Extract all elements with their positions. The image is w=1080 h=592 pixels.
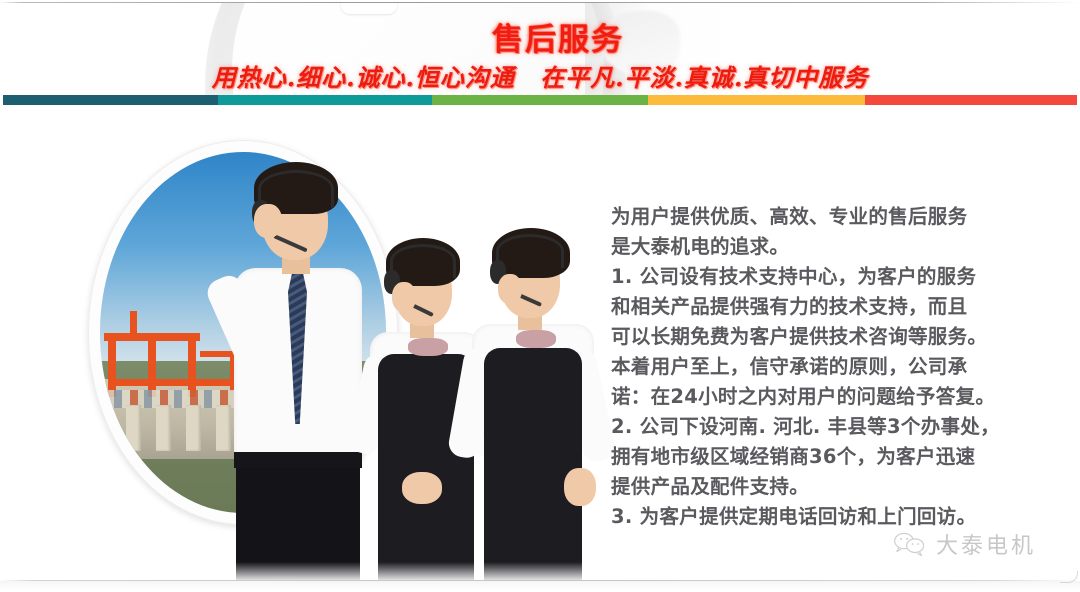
page-subtitle: 用热心.细心.诚心.恒心沟通 在平凡.平淡.真诚.真切中服务 [0, 58, 1080, 93]
agent-vest [484, 348, 582, 586]
gantry-crane-mast [130, 311, 137, 339]
copy-line: 是大泰机电的追求。 [611, 232, 1031, 262]
pier-column [126, 405, 141, 451]
wechat-watermark: 大泰电机 [893, 528, 1036, 560]
header-tab-decoration [341, 3, 397, 14]
page-title: 售后服务 [18, 14, 1080, 59]
stripe-segment-teal-dark [3, 95, 218, 105]
stripe-segment-red [865, 95, 1077, 105]
wechat-account-name: 大泰电机 [936, 528, 1036, 560]
stripe-segment-yellow [648, 95, 865, 105]
color-stripe-bar [3, 95, 1077, 105]
agent-female-right [448, 182, 612, 586]
gantry-crane-leg [148, 333, 156, 397]
pier-column [186, 405, 201, 451]
customer-service-agents [212, 156, 612, 586]
copy-line: 可以长期免费为客户提供技术咨询等服务。 [611, 322, 1031, 352]
agent-hand [254, 204, 282, 238]
copy-line: 拥有地市级区域经销商36个，为客户迅速 [611, 442, 1031, 472]
service-team-photo [62, 118, 622, 588]
copy-line: 2. 公司下设河南. 河北. 丰县等3个办事处， [611, 412, 1031, 442]
page-subtitle-left: 用热心.细心.诚心.恒心沟通 [212, 63, 515, 92]
wechat-icon [893, 531, 927, 557]
gantry-crane-leg [108, 333, 116, 397]
copy-line: 为用户提供优质、高效、专业的售后服务 [611, 202, 1031, 232]
agent-belt [234, 452, 362, 468]
bottom-shade [0, 581, 1080, 592]
page-subtitle-right: 在平凡.平淡.真诚.真切中服务 [540, 63, 868, 92]
copy-line: 1. 公司设有技术支持中心，为客户的服务 [611, 262, 1031, 292]
agent-hand [392, 282, 416, 312]
agent-bowtie [516, 330, 556, 348]
slide-header: 售后服务 用热心.细心.诚心.恒心沟通 在平凡.平淡.真诚.真切中服务 [0, 3, 1080, 98]
copy-line: 提供产品及配件支持。 [611, 472, 1031, 502]
pier-column [156, 405, 171, 451]
agent-hand [564, 468, 596, 506]
copy-line: 诺：在24小时之内对用户的问题给予答复。 [611, 382, 1031, 412]
agent-hand [402, 472, 442, 504]
gantry-crane-leg [188, 333, 196, 397]
agent-bowtie [408, 338, 448, 356]
agent-hand [498, 274, 522, 304]
service-description-text: 为用户提供优质、高效、专业的售后服务 是大泰机电的追求。 1. 公司设有技术支持… [611, 202, 1031, 532]
headset-band-icon [258, 170, 334, 208]
copy-line: 本着用户至上，信守承诺的原则，公司承 [611, 352, 1031, 382]
slide-canvas: 售后服务 用热心.细心.诚心.恒心沟通 在平凡.平淡.真诚.真切中服务 [0, 0, 1080, 592]
copy-line: 和相关产品提供强有力的技术支持，而且 [611, 292, 1031, 322]
headset-band-icon [496, 234, 564, 268]
stripe-segment-teal [218, 95, 432, 105]
stripe-segment-green [432, 95, 648, 105]
headset-band-icon [390, 244, 456, 278]
